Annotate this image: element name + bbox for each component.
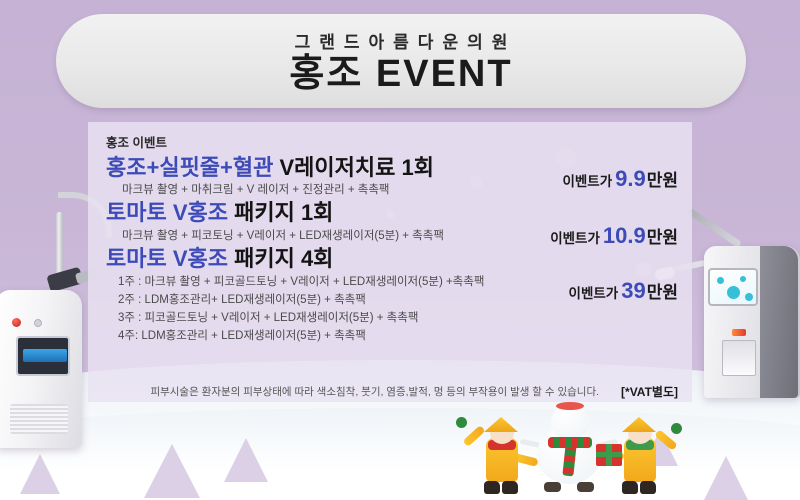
device-arm <box>687 208 742 248</box>
offer-title-rest: 패키지 4회 <box>228 246 333 271</box>
knob-icon <box>34 319 42 327</box>
child-hat <box>622 417 656 432</box>
child-hat <box>484 417 518 432</box>
screen-dot-icon <box>717 277 724 284</box>
child-boot <box>622 481 638 494</box>
snowman-scarf <box>548 437 592 448</box>
price-number: 39 <box>621 278 645 303</box>
screen-dot-icon <box>740 276 746 282</box>
child-figure-right <box>610 420 668 494</box>
child-figure-left <box>472 420 530 494</box>
price-unit: 만원 <box>647 283 678 302</box>
snowman-foot <box>544 482 561 492</box>
offer-week-line: 4주: LDM홍조관리 + LED재생레이저(5분) + 촉촉팩 <box>118 327 692 345</box>
price-label: 이벤트가 <box>569 286 619 301</box>
device-body <box>704 246 800 398</box>
offer-week-line: 3주 : 피코골드토닝 + V레이저 + LED재생레이저(5분) + 촉촉팩 <box>118 309 692 327</box>
price-unit: 만원 <box>647 228 678 247</box>
snowman-figure <box>532 406 606 492</box>
clinic-name: 그랜드아름다운의원 <box>286 28 517 53</box>
price-tag: 이벤트가10.9만원 <box>550 223 678 249</box>
header-banner: 그랜드아름다운의원 홍조 EVENT <box>56 14 746 108</box>
snow-figures <box>470 405 670 500</box>
price-unit: 만원 <box>647 171 678 190</box>
price-number: 10.9 <box>603 223 646 248</box>
offer-panel: 홍조 이벤트 홍조+실핏줄+혈관 V레이저치료 1회 마크뷰 촬영 + 마취크림… <box>88 122 692 402</box>
panel-footer: 피부시술은 환자분의 피부상태에 따라 색소침착, 붓기, 염증,발적, 멍 등… <box>88 383 692 400</box>
panel-label: 홍조 이벤트 <box>106 132 692 151</box>
vat-note: [*VAT별도] <box>621 383 678 400</box>
offer-title-rest: 패키지 1회 <box>228 200 333 225</box>
price-tag: 이벤트가39만원 <box>569 278 678 304</box>
device-touchscreen <box>708 268 758 306</box>
snowman-hat <box>556 402 584 410</box>
disclaimer-text: 피부시술은 환자분의 피부상태에 따라 색소침착, 붓기, 염증,발적, 멍 등… <box>150 384 599 399</box>
price-label: 이벤트가 <box>550 231 600 246</box>
screen-dot-icon <box>727 286 740 299</box>
gift-box-icon <box>596 444 622 466</box>
snowman-foot <box>577 482 594 492</box>
child-boot <box>502 481 518 494</box>
screen-dot-icon <box>745 293 753 301</box>
price-number: 9.9 <box>615 166 646 191</box>
promo-poster: 그랜드아름다운의원 홍조 EVENT <box>0 0 800 500</box>
offer-title-accent: 토마토 V홍조 <box>106 246 228 271</box>
page-title: 홍조 EVENT <box>289 55 512 95</box>
device-body <box>0 290 82 448</box>
mitten-icon <box>671 423 682 434</box>
device-vent <box>10 404 68 434</box>
offer-title: 토마토 V홍조 패키지 4회 <box>106 245 692 273</box>
offer-list: 홍조+실핏줄+혈관 V레이저치료 1회 마크뷰 촬영 + 마취크림 + V 레이… <box>88 154 692 346</box>
indicator-light-icon <box>732 329 746 336</box>
device-front-strip <box>722 340 756 376</box>
device-side-panel <box>760 246 798 398</box>
power-button-icon <box>12 318 21 327</box>
offer-title-accent: 홍조+실핏줄+혈관 <box>106 155 273 180</box>
offer-title-rest: V레이저치료 1회 <box>273 155 434 180</box>
offer-title-accent: 토마토 V홍조 <box>106 200 228 225</box>
price-label: 이벤트가 <box>562 174 612 189</box>
laser-device-right <box>682 148 800 398</box>
device-screen <box>16 336 70 376</box>
mitten-icon <box>456 417 467 428</box>
price-tag: 이벤트가9.9만원 <box>562 166 678 192</box>
child-boot <box>640 481 656 494</box>
child-boot <box>484 481 500 494</box>
snow-ground-front <box>0 408 800 500</box>
